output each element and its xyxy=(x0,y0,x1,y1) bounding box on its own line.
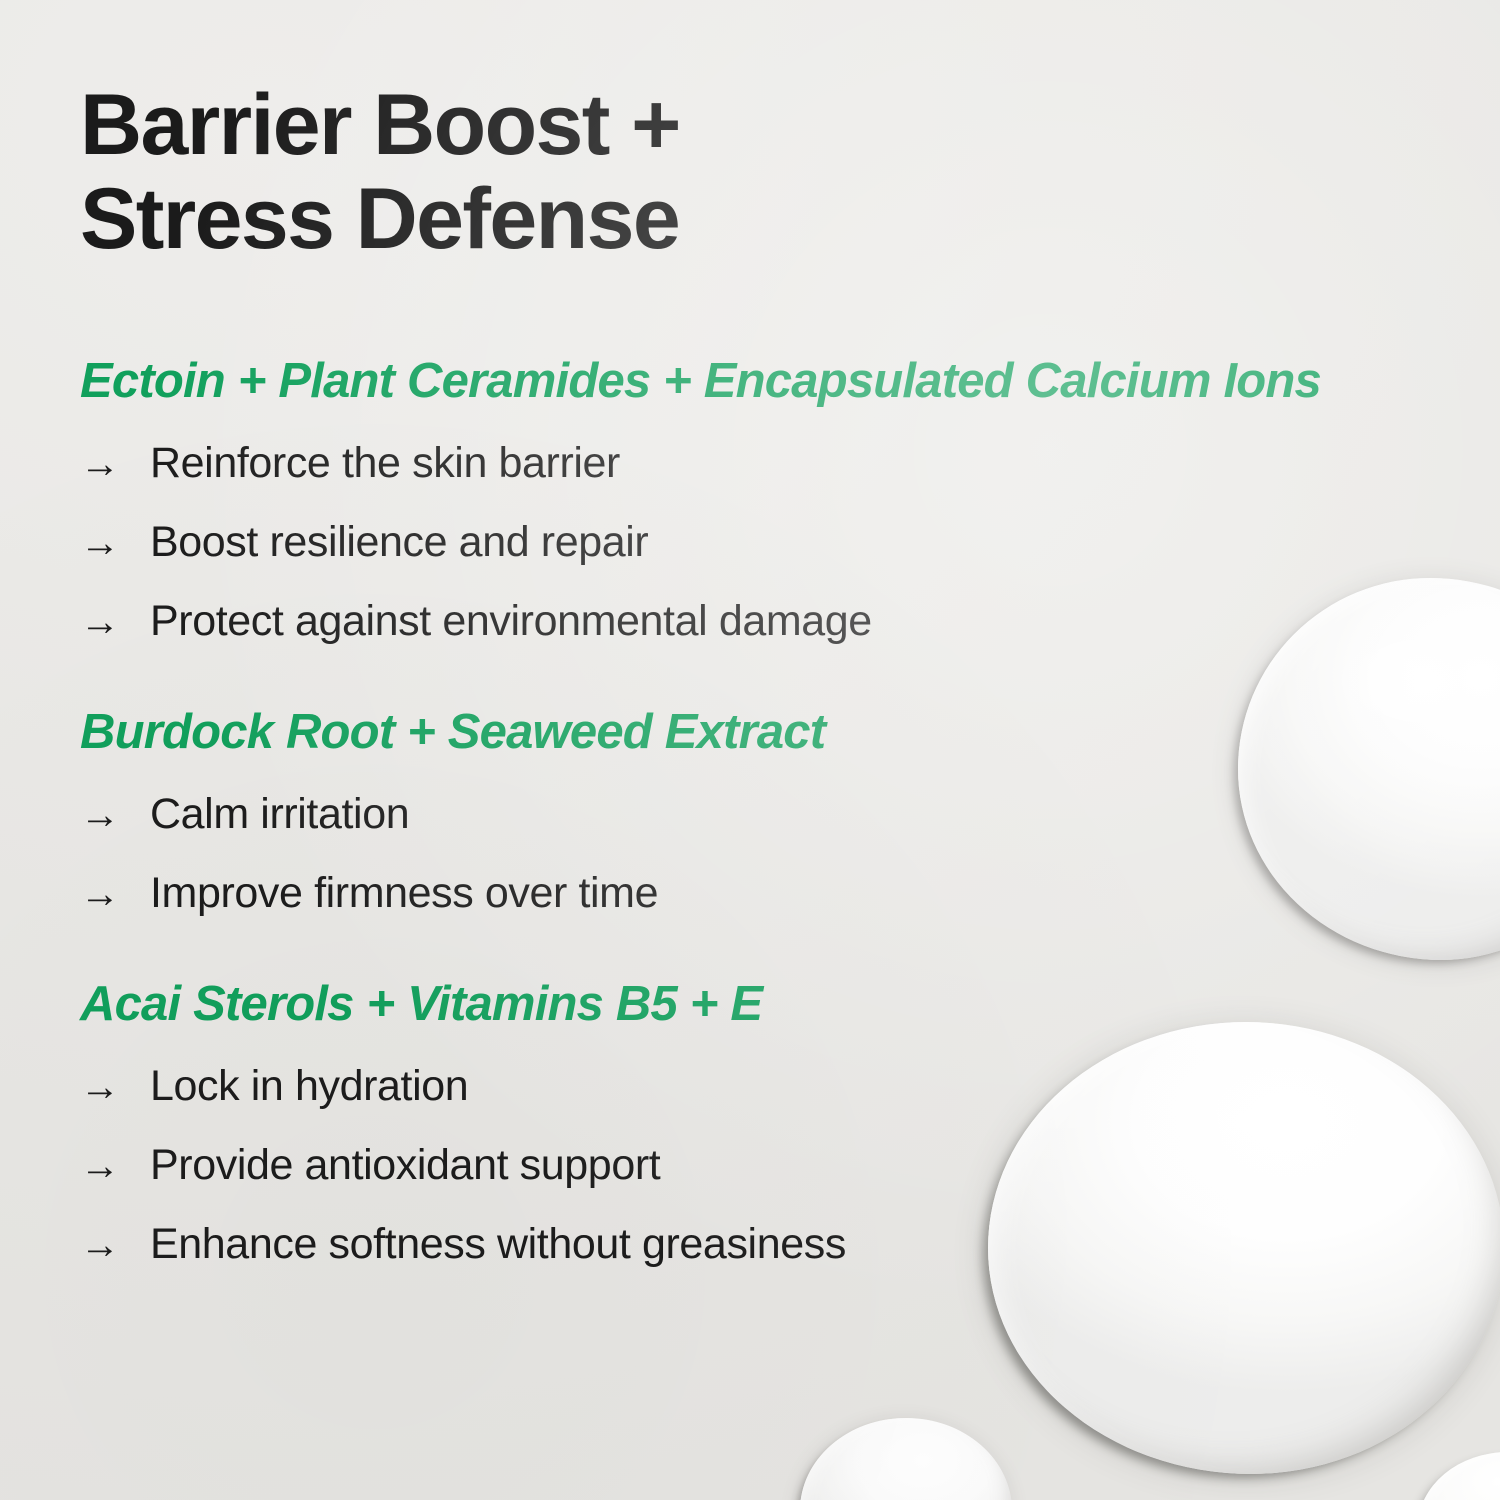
benefit-section-3: Acai Sterols + Vitamins B5 + E → Lock in… xyxy=(80,975,1460,1272)
benefit-text: Lock in hydration xyxy=(150,1059,1460,1113)
benefit-text: Provide antioxidant support xyxy=(150,1138,1460,1192)
arrow-right-icon: → xyxy=(80,595,150,649)
list-item: → Lock in hydration xyxy=(80,1059,1460,1114)
section-heading-ingredients-1: Ectoin + Plant Ceramides + Encapsulated … xyxy=(80,352,1460,410)
arrow-right-icon: → xyxy=(80,1139,150,1193)
benefit-section-1: Ectoin + Plant Ceramides + Encapsulated … xyxy=(80,352,1460,649)
section-heading-ingredients-2: Burdock Root + Seaweed Extract xyxy=(80,703,1460,761)
page-title: Barrier Boost + Stress Defense xyxy=(80,78,680,266)
arrow-right-icon: → xyxy=(80,1060,150,1114)
list-item: → Calm irritation xyxy=(80,787,1460,842)
list-item: → Boost resilience and repair xyxy=(80,515,1460,570)
benefit-list-3: → Lock in hydration → Provide antioxidan… xyxy=(80,1059,1460,1272)
section-heading-ingredients-3: Acai Sterols + Vitamins B5 + E xyxy=(80,975,1460,1033)
benefit-text: Protect against environmental damage xyxy=(150,594,1460,648)
list-item: → Reinforce the skin barrier xyxy=(80,436,1460,491)
list-item: → Provide antioxidant support xyxy=(80,1138,1460,1193)
benefit-text: Enhance softness without greasiness xyxy=(150,1217,1460,1271)
content-area: Barrier Boost + Stress Defense Ectoin + … xyxy=(0,0,1500,1500)
list-item: → Enhance softness without greasiness xyxy=(80,1217,1460,1272)
product-benefits-graphic: Barrier Boost + Stress Defense Ectoin + … xyxy=(0,0,1500,1500)
arrow-right-icon: → xyxy=(80,516,150,570)
benefit-text: Reinforce the skin barrier xyxy=(150,436,1460,490)
arrow-right-icon: → xyxy=(80,1218,150,1272)
arrow-right-icon: → xyxy=(80,437,150,491)
benefit-sections: Ectoin + Plant Ceramides + Encapsulated … xyxy=(80,352,1460,1272)
benefit-text: Boost resilience and repair xyxy=(150,515,1460,569)
benefit-list-1: → Reinforce the skin barrier → Boost res… xyxy=(80,436,1460,649)
benefit-text: Calm irritation xyxy=(150,787,1460,841)
benefit-list-2: → Calm irritation → Improve firmness ove… xyxy=(80,787,1460,921)
list-item: → Protect against environmental damage xyxy=(80,594,1460,649)
benefit-text: Improve firmness over time xyxy=(150,866,1460,920)
arrow-right-icon: → xyxy=(80,867,150,921)
arrow-right-icon: → xyxy=(80,788,150,842)
benefit-section-2: Burdock Root + Seaweed Extract → Calm ir… xyxy=(80,703,1460,921)
list-item: → Improve firmness over time xyxy=(80,866,1460,921)
